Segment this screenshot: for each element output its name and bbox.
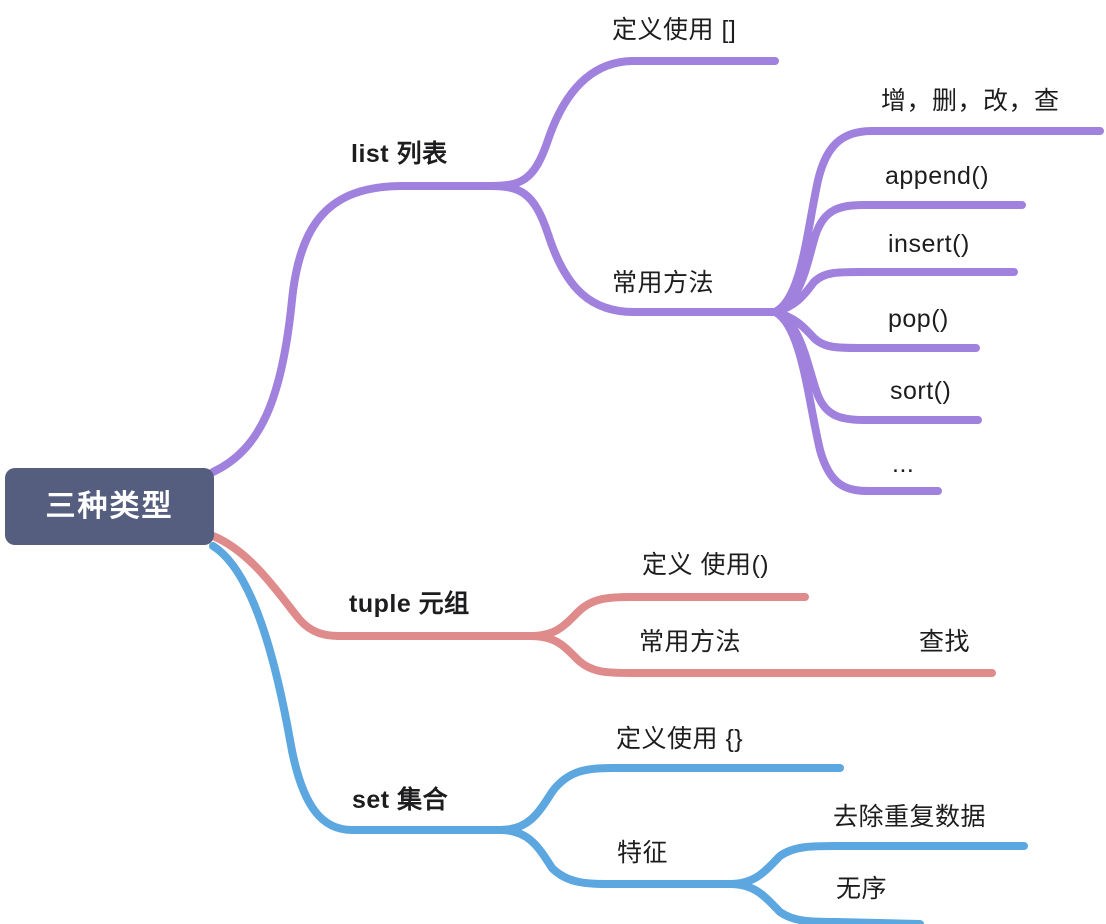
- node-list-methods[interactable]: 常用方法: [612, 271, 714, 296]
- node-find[interactable]: 查找: [919, 630, 970, 655]
- node-list[interactable]: list 列表: [351, 142, 448, 167]
- node-list-define[interactable]: 定义使用 []: [612, 18, 736, 43]
- edge-list-to-define: [490, 61, 775, 186]
- edge-set-to-define: [500, 768, 840, 830]
- node-tuple[interactable]: tuple 元组: [349, 592, 470, 617]
- root-node-label: 三种类型: [46, 492, 174, 522]
- node-crud[interactable]: 增，删，改，查: [881, 89, 1060, 114]
- node-tuple-methods[interactable]: 常用方法: [639, 630, 741, 655]
- node-ellipsis[interactable]: ...: [892, 452, 914, 477]
- node-pop[interactable]: pop(): [888, 307, 949, 332]
- node-tuple-define[interactable]: 定义 使用(): [642, 553, 769, 578]
- mindmap-connectors: [0, 0, 1106, 924]
- node-unordered[interactable]: 无序: [836, 877, 887, 902]
- edge-root-to-list: [213, 186, 490, 472]
- root-node[interactable]: 三种类型: [5, 468, 214, 545]
- node-insert[interactable]: insert(): [888, 232, 970, 257]
- node-set-define[interactable]: 定义使用 {}: [616, 727, 743, 752]
- node-set-features[interactable]: 特征: [617, 841, 668, 866]
- node-set[interactable]: set 集合: [352, 788, 448, 813]
- mindmap-canvas: 三种类型 list 列表 定义使用 [] 常用方法 增，删，改，查 append…: [0, 0, 1106, 924]
- edge-features-to-unordered: [730, 884, 920, 924]
- node-append[interactable]: append(): [885, 164, 989, 189]
- edge-set-to-features: [500, 830, 730, 884]
- node-dedupe[interactable]: 去除重复数据: [833, 805, 986, 830]
- node-sort[interactable]: sort(): [890, 379, 951, 404]
